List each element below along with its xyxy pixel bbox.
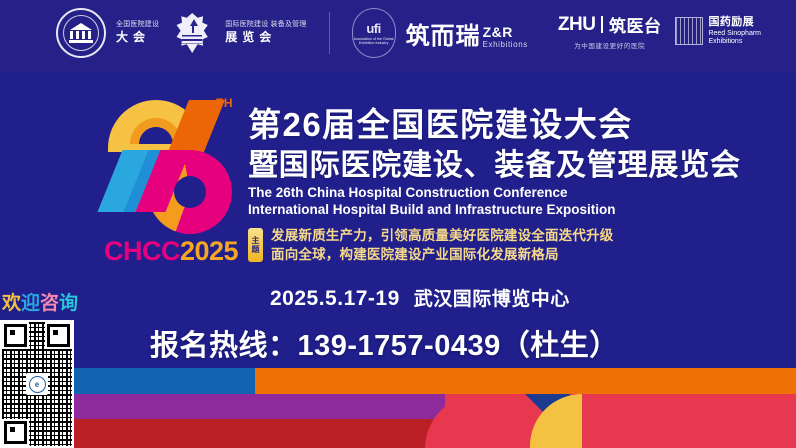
cahc-emblem-label: 全国医院建设 大会 xyxy=(116,21,159,45)
exhibition-small-text: 国际医院建设 装备及管理 xyxy=(225,21,306,29)
ufi-main-text: ufi xyxy=(366,21,380,36)
qr-center-ring-icon: e xyxy=(29,376,46,393)
reed-sinopharm-logo: 国药励展 Reed Sinopharm Exhibitions xyxy=(675,16,761,46)
ufi-sub-text: Association of the Global Exhibition Ind… xyxy=(353,37,395,46)
sinopharm-text-block: 国药励展 Reed Sinopharm Exhibitions xyxy=(708,16,761,46)
exhibition-big-text: 展览会 xyxy=(225,31,306,45)
qr-contact-panel[interactable]: 欢迎咨询 e xyxy=(0,292,74,448)
title-en-line1: The 26th China Hospital Construction Con… xyxy=(248,184,616,201)
welcome-char-3: 咨 xyxy=(40,293,59,314)
zhu-cn-text: 筑医台 xyxy=(609,12,662,37)
cahc-emblem-icon xyxy=(56,8,106,58)
qr-finder-bottom-left xyxy=(4,421,27,444)
zhu-yitai-logo: ZHU 筑医台 为中国建设更好的医院 xyxy=(558,12,662,50)
theme-badge: 主 题 xyxy=(248,228,263,262)
sinopharm-en2: Exhibitions xyxy=(708,38,761,46)
snowflake-emblem-icon xyxy=(169,10,215,56)
chcc-wordmark: CHCC2025 xyxy=(104,236,238,267)
zhu-separator xyxy=(601,16,603,33)
zhu-tagline: 为中国建设更好的医院 xyxy=(574,40,645,50)
theme-badge-char-1: 主 xyxy=(252,236,260,245)
qr-code-pattern: e xyxy=(2,322,72,446)
logo-shape-ring-hole xyxy=(174,176,206,208)
band-orange xyxy=(255,368,796,394)
qr-finder-top-left xyxy=(4,324,27,347)
page-subtitle-en: The 26th China Hospital Construction Con… xyxy=(248,184,616,219)
page-title: 第26届全国医院建设大会 xyxy=(248,98,633,146)
qr-finder-top-right xyxy=(47,324,70,347)
theme-block: 主 题 发展新质生产力，引领高质量美好医院建设全面迭代升级 面向全球，构建医院建… xyxy=(248,226,614,264)
chcc-letters: CHCC xyxy=(104,236,180,266)
sinopharm-cn: 国药励展 xyxy=(708,16,761,29)
qr-code[interactable]: e xyxy=(0,320,74,448)
event-date: 2025.5.17-19 xyxy=(270,287,400,310)
welcome-inquiry-text: 欢迎咨询 xyxy=(2,294,78,313)
page-subtitle-cn: 暨国际医院建设、装备及管理展览会 xyxy=(248,140,741,184)
anniversary-26-logo: TH CHCC2025 xyxy=(96,92,246,272)
event-date-venue: 2025.5.17-19武汉国际博览中心 xyxy=(270,284,570,311)
conference-poster: 全国医院建设 大会 国际医院建设 装备及管理 展览会 ufi Associati… xyxy=(0,0,796,448)
decorative-color-bands xyxy=(0,368,796,448)
theme-lines: 发展新质生产力，引领高质量美好医院建设全面迭代升级 面向全球，构建医院建设产业国… xyxy=(271,226,614,264)
cahc-big-text: 大会 xyxy=(116,31,159,45)
exhibition-emblem-label: 国际医院建设 装备及管理 展览会 xyxy=(225,21,306,45)
cahc-small-text: 全国医院建设 xyxy=(116,21,159,29)
header-right-logos: ZHU 筑医台 为中国建设更好的医院 国药励展 Reed Sinopharm E… xyxy=(558,12,761,50)
qr-center-logo: e xyxy=(26,373,48,395)
theme-badge-char-2: 题 xyxy=(252,245,260,254)
chcc-year: 2025 xyxy=(180,236,238,266)
welcome-char-1: 欢 xyxy=(2,293,21,314)
header-left-logos: 全国医院建设 大会 国际医院建设 装备及管理 展览会 ufi Associati… xyxy=(56,8,528,58)
zhr-exhibitions-logo: 筑而瑞 Z&R Exhibitions xyxy=(406,16,528,51)
anniversary-th-superscript: TH xyxy=(216,96,233,110)
welcome-char-2: 迎 xyxy=(21,293,40,314)
welcome-char-4: 询 xyxy=(59,293,78,314)
sinopharm-en1: Reed Sinopharm xyxy=(708,30,761,38)
zhu-top-row: ZHU 筑医台 xyxy=(558,12,662,37)
bank-building-icon xyxy=(69,23,93,43)
sinopharm-mark-icon xyxy=(675,17,703,45)
ufi-badge-icon: ufi Association of the Global Exhibition… xyxy=(352,8,396,58)
zhr-cn-text: 筑而瑞 xyxy=(406,16,481,51)
zhr-en-small: Exhibitions xyxy=(483,41,528,49)
zhu-letters: ZHU xyxy=(558,14,596,36)
header-logo-bar: 全国医院建设 大会 国际医院建设 装备及管理 展览会 ufi Associati… xyxy=(0,0,796,72)
title-en-line2: International Hospital Build and Infrast… xyxy=(248,201,616,218)
zhr-en-big: Z&R xyxy=(483,25,528,39)
zhr-en-block: Z&R Exhibitions xyxy=(483,25,528,51)
header-divider xyxy=(329,12,330,54)
event-venue: 武汉国际博览中心 xyxy=(414,289,570,310)
band-red-right xyxy=(582,394,796,448)
theme-line-1: 发展新质生产力，引领高质量美好医院建设全面迭代升级 xyxy=(271,226,614,245)
registration-hotline: 报名热线：139-1757-0439（杜生） xyxy=(150,322,619,364)
theme-line-2: 面向全球，构建医院建设产业国际化发展新格局 xyxy=(271,245,614,264)
